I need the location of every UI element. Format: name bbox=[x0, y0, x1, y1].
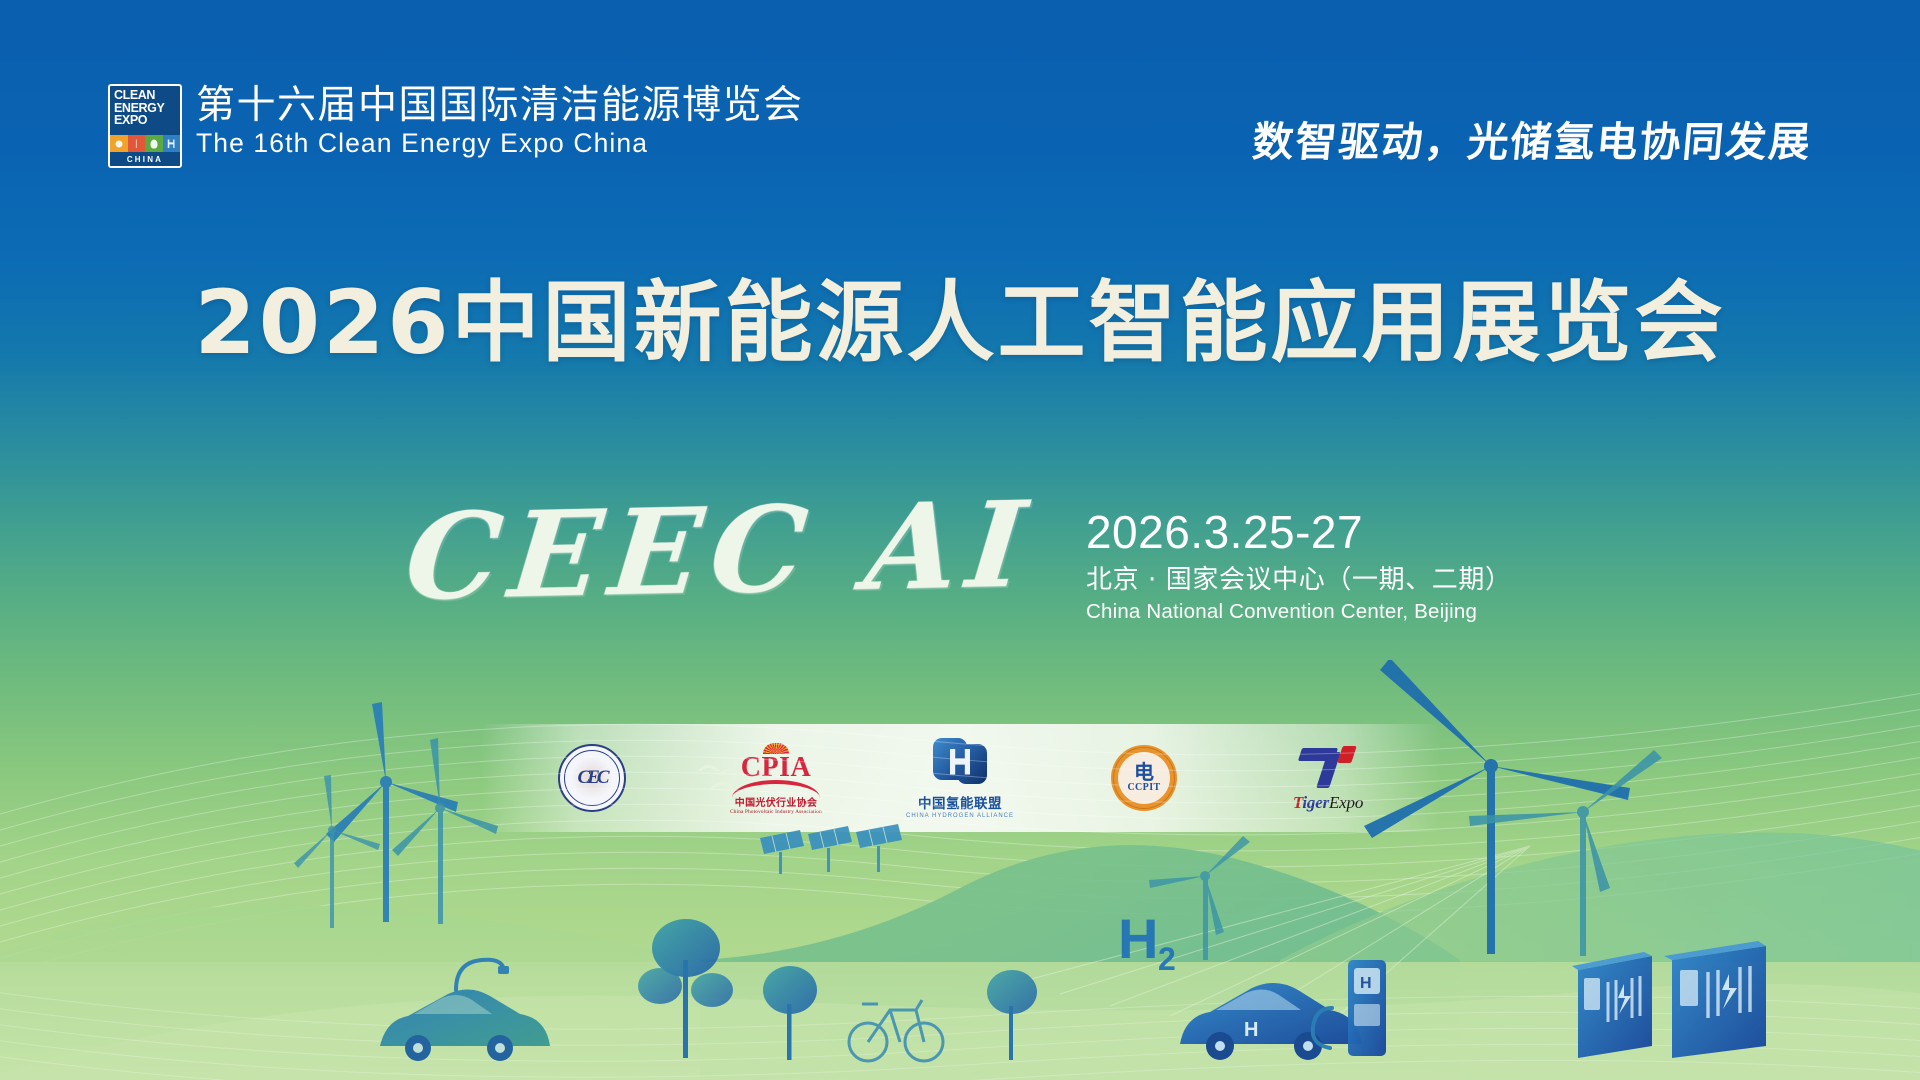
svg-text:H: H bbox=[1118, 907, 1158, 970]
battery-storage-icon bbox=[1572, 952, 1652, 1058]
ccpit-glyph: 电 bbox=[1127, 763, 1160, 782]
logo-wordmark: CLEAN ENERGY EXPO bbox=[110, 86, 180, 135]
logo-icon-strip bbox=[110, 135, 180, 152]
biomass-icon bbox=[145, 135, 163, 152]
header-tagline: 数智驱动，光储氢电协同发展 bbox=[1250, 108, 1814, 168]
event-details: 2026.3.25-27 北京 · 国家会议中心（一期、二期） China Na… bbox=[1086, 485, 1512, 625]
page-title: 2026中国新能源人工智能应用展览会 bbox=[0, 268, 1920, 378]
poster-header: CLEAN ENERGY EXPO CHINA 第十六届中国国际清洁能源博览会 … bbox=[0, 0, 1920, 200]
brand-text-block: 第十六届中国国际清洁能源博览会 The 16th Clean Energy Ex… bbox=[196, 84, 804, 158]
event-identity-row: CEEC AI 2026.3.25-27 北京 · 国家会议中心（一期、二期） … bbox=[0, 485, 1920, 625]
birds-icon bbox=[700, 767, 739, 789]
logo-line-1: CLEAN bbox=[114, 89, 176, 102]
event-venue-cn: 北京 · 国家会议中心（一期、二期） bbox=[1086, 563, 1512, 597]
svg-text:2: 2 bbox=[1158, 941, 1176, 977]
wind-turbine-icon bbox=[128, 135, 146, 152]
hydrogen-icon bbox=[163, 135, 181, 152]
solar-panel-icon bbox=[760, 824, 902, 874]
clean-energy-expo-logo: CLEAN ENERGY EXPO CHINA bbox=[108, 84, 182, 168]
poster-canvas: CLEAN ENERGY EXPO CHINA 第十六届中国国际清洁能源博览会 … bbox=[0, 0, 1920, 1080]
charger-display-label: H bbox=[1360, 975, 1372, 992]
logo-country-label: CHINA bbox=[110, 152, 180, 166]
hydrogen-car-label: H bbox=[1244, 1019, 1258, 1041]
wind-turbine-icon bbox=[392, 738, 498, 924]
ceec-ai-logotype: CEEC AI bbox=[401, 478, 1041, 617]
logo-line-3: EXPO bbox=[114, 114, 176, 127]
brand-title-en: The 16th Clean Energy Expo China bbox=[196, 128, 804, 158]
event-venue-en: China National Convention Center, Beijin… bbox=[1086, 599, 1512, 625]
sun-icon bbox=[110, 135, 128, 152]
landscape-illustration: H H H 2 bbox=[0, 660, 1920, 1080]
cec-monogram: CEC bbox=[577, 767, 606, 789]
event-date: 2026.3.25-27 bbox=[1086, 507, 1512, 557]
brand-title-cn: 第十六届中国国际清洁能源博览会 bbox=[196, 85, 804, 127]
ccpit-acronym: CCPIT bbox=[1127, 782, 1160, 793]
brand-lockup: CLEAN ENERGY EXPO CHINA 第十六届中国国际清洁能源博览会 … bbox=[108, 84, 804, 168]
battery-storage-icon bbox=[1664, 941, 1766, 1058]
